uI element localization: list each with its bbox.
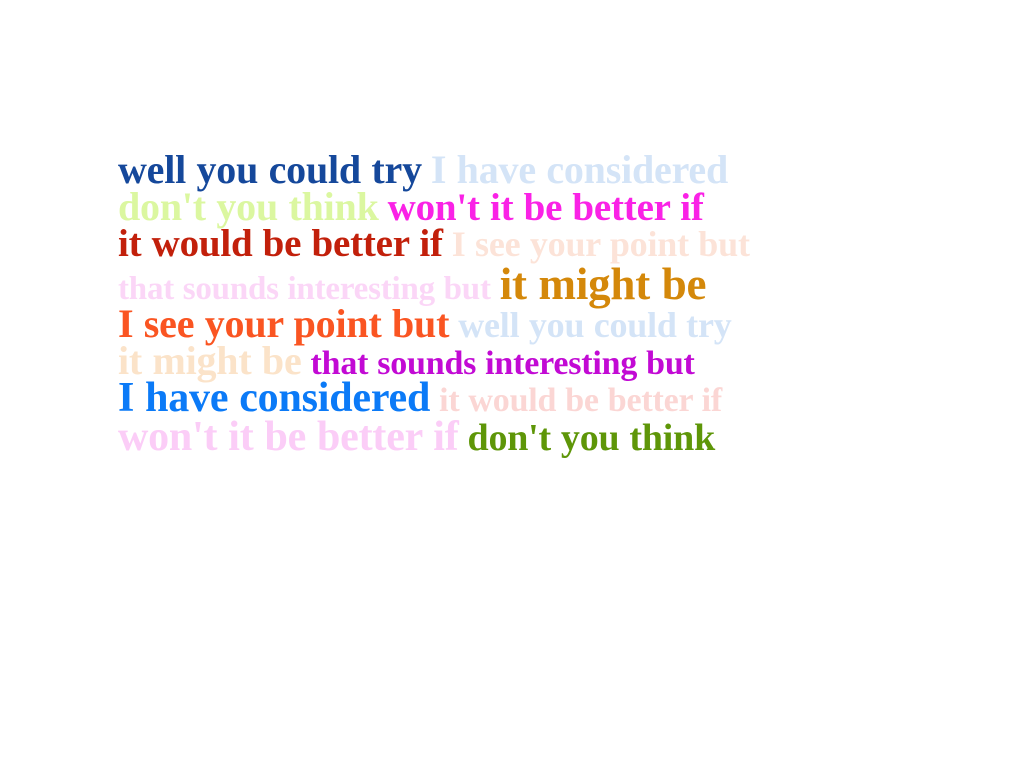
cloud-row: it would be better ifI see your point bu… bbox=[118, 225, 918, 263]
word-cloud-canvas: well you could tryI have considereddon't… bbox=[0, 0, 1024, 768]
cloud-phrase[interactable]: it might be bbox=[500, 259, 707, 309]
cloud-phrase[interactable]: don't you think bbox=[468, 417, 716, 459]
cloud-phrase[interactable]: well you could try bbox=[458, 305, 731, 345]
cloud-row: I have consideredit would be better if bbox=[118, 378, 918, 419]
cloud-row: don't you thinkwon't it be better if bbox=[118, 187, 918, 227]
cloud-phrase[interactable]: won't it be better if bbox=[118, 414, 459, 460]
phrase-cloud: well you could tryI have considereddon't… bbox=[118, 150, 918, 459]
cloud-phrase[interactable]: it would be better if bbox=[439, 382, 722, 419]
cloud-row: won't it be better ifdon't you think bbox=[118, 417, 918, 458]
cloud-row: that sounds interesting butit might be bbox=[118, 262, 918, 306]
cloud-phrase[interactable]: it would be better if bbox=[118, 222, 443, 265]
